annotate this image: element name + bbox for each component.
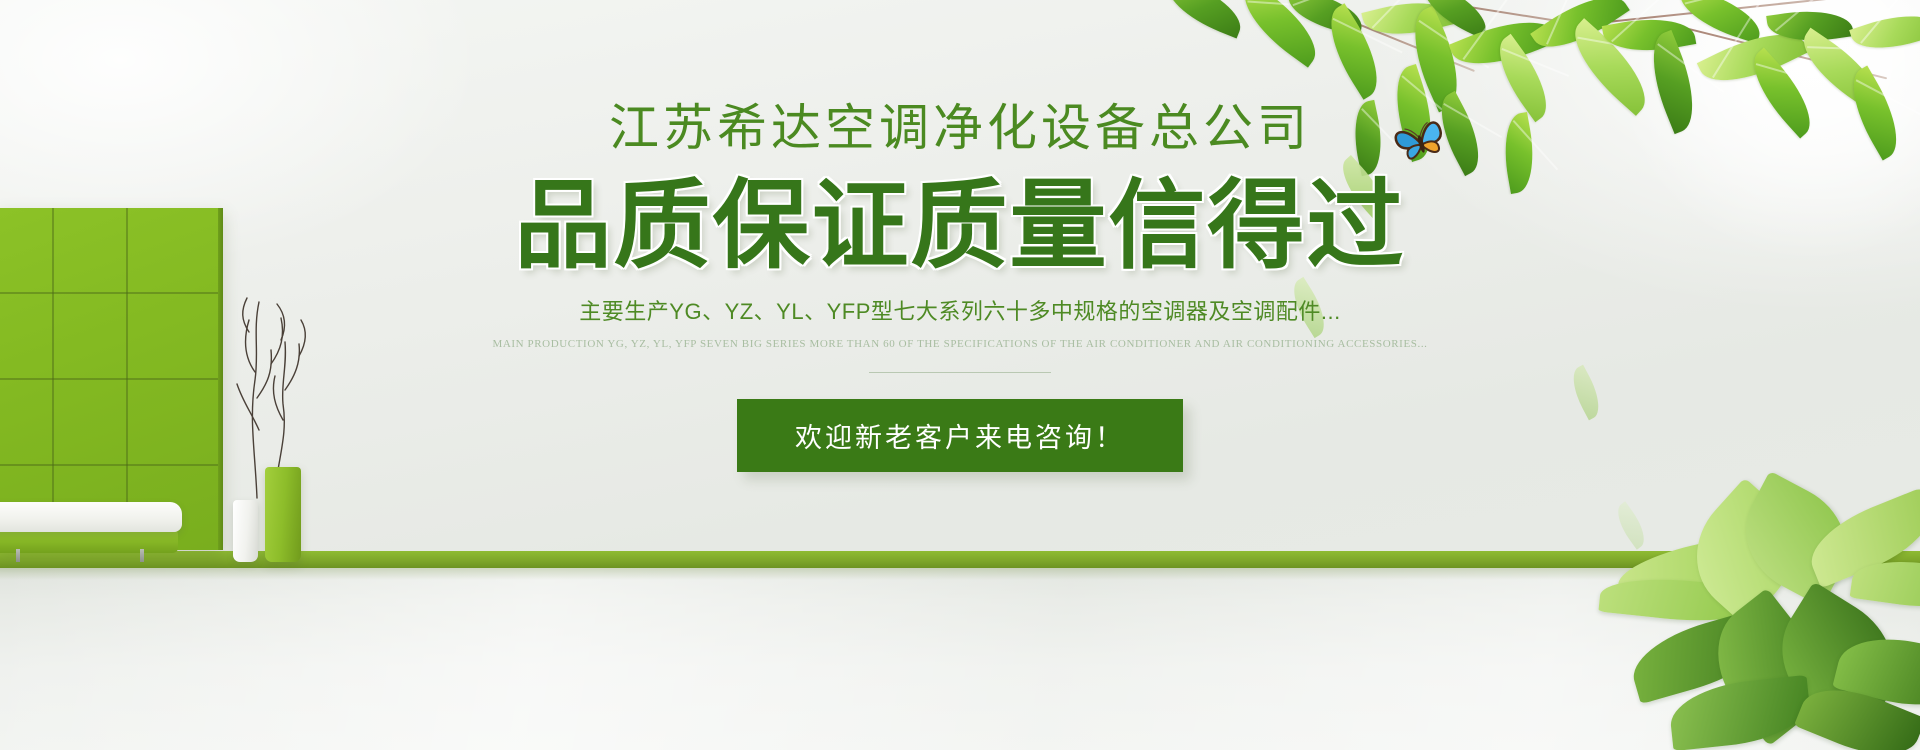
hero-banner: 江苏希达空调净化设备总公司 品质保证质量信得过 主要生产YG、YZ、YL、YFP…	[0, 0, 1920, 750]
subtitle-english: MAIN PRODUCTION YG, YZ, YL, YFP SEVEN BI…	[0, 337, 1920, 351]
headline: 品质保证质量信得过	[0, 175, 1920, 277]
divider	[869, 372, 1051, 373]
white-vase	[233, 500, 258, 562]
company-name: 江苏希达空调净化设备总公司	[0, 103, 1920, 153]
sofa	[0, 502, 190, 562]
green-vase	[265, 467, 301, 562]
banner-content: 江苏希达空调净化设备总公司 品质保证质量信得过 主要生产YG、YZ、YL、YFP…	[0, 0, 1920, 472]
subtitle-chinese: 主要生产YG、YZ、YL、YFP型七大系列六十多中规格的空调器及空调配件...	[0, 297, 1920, 328]
potted-plant	[1570, 450, 1920, 750]
cta-container: 欢迎新老客户来电咨询！	[0, 399, 1920, 472]
contact-cta-button[interactable]: 欢迎新老客户来电咨询！	[737, 399, 1183, 472]
